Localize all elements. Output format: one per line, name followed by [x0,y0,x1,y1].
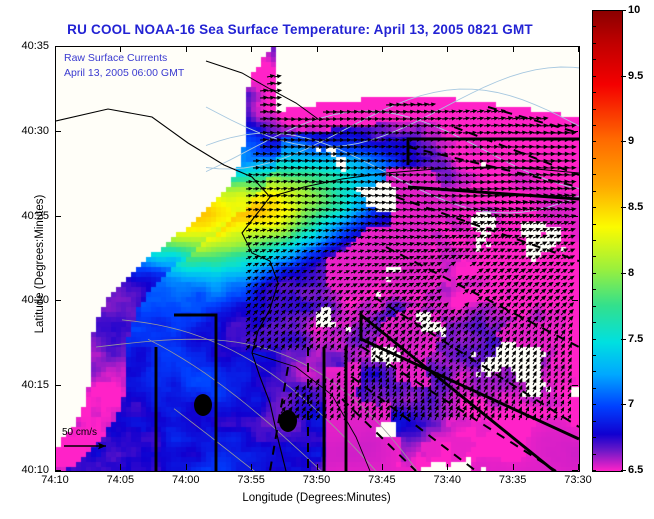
current-vector [533,180,540,183]
current-vector [470,372,473,378]
current-vector [302,271,306,274]
current-vector [365,153,371,155]
current-vector [407,330,412,336]
current-vector [316,283,321,287]
current-vector [463,276,469,280]
current-vector [421,283,427,287]
current-vector [414,250,421,253]
current-vector [491,187,498,190]
radar-sector-boundary [361,315,579,471]
current-vector [386,167,392,170]
current-vector [428,146,434,148]
current-vector [498,262,504,266]
current-vector [463,110,469,113]
current-vector [274,125,281,128]
current-vector [309,173,316,176]
current-vector [421,201,428,204]
current-vector [449,366,452,371]
current-vector [316,236,321,238]
current-vector [393,222,400,225]
current-vector [386,201,393,204]
current-vector [491,407,494,413]
current-vector [323,146,330,149]
current-vector [393,284,399,287]
current-vector [246,311,250,315]
current-vector [337,271,342,273]
current-vector [267,96,274,99]
current-vector [512,337,516,343]
current-vector [554,242,561,245]
current-vector [477,297,482,302]
current-vector [526,276,532,280]
current-vector [554,296,559,301]
current-vector [281,331,285,336]
current-vector [302,310,306,315]
current-vector [540,256,546,259]
current-vector [414,270,420,273]
y-tick [572,131,578,132]
current-vector [267,82,274,85]
current-vector [526,372,529,378]
current-vector [533,351,536,357]
current-vector [330,407,333,413]
current-vector [540,358,543,364]
current-vector [533,256,539,259]
current-vector [337,338,341,343]
current-vector [281,345,285,350]
current-vector [309,338,313,344]
current-vector [330,125,337,128]
current-vector [344,243,349,245]
current-vector [393,392,396,399]
current-vector [288,264,293,267]
current-vector [547,187,554,190]
current-vector [435,406,438,413]
current-vector [456,372,459,378]
current-vector [253,270,258,273]
current-vector [379,243,385,246]
current-vector [288,400,292,406]
current-vector [365,229,371,231]
current-vector [351,264,356,266]
current-vector [344,250,349,252]
current-vector [358,181,364,183]
current-vector [274,304,279,308]
current-vector [295,386,298,392]
current-vector [463,249,469,252]
current-vector [421,337,425,343]
current-vector [568,208,576,211]
current-vector [477,365,480,371]
current-vector [554,249,560,252]
current-vector [316,160,322,163]
current-vector [470,406,473,413]
coastline-path [56,109,286,471]
current-vector [330,111,337,114]
current-vector [540,296,546,301]
current-vector [477,283,482,287]
current-vector [365,291,371,295]
current-vector [337,317,342,322]
current-vector [491,262,497,266]
current-vector [260,188,266,190]
current-vector [288,118,295,121]
x-tick [447,464,448,470]
current-vector [428,359,431,364]
current-vector [302,290,307,294]
current-vector [554,344,557,350]
current-vector [533,400,536,406]
current-vector [309,180,316,183]
current-vector [379,290,385,294]
current-vector [470,124,476,126]
current-vector [554,187,561,190]
current-vector [533,145,540,148]
current-vector [351,304,356,308]
current-vector [274,202,280,204]
current-vector [260,304,265,308]
current-vector [526,386,529,392]
current-vector [547,215,554,218]
y-tick-label: 40:20 [3,294,49,306]
current-vector [358,277,364,280]
current-vector [435,160,441,162]
current-vector [246,257,251,259]
current-vector [379,372,382,378]
current-vector [302,331,306,336]
current-vector [358,407,361,414]
current-vector [484,110,491,113]
current-vector [330,400,333,406]
current-vector [463,124,469,126]
current-vector [477,413,480,420]
current-vector [414,317,420,322]
current-vector [407,118,414,121]
current-vector [519,207,527,210]
current-vector [442,160,448,162]
current-vector [260,167,266,170]
current-vector [435,324,440,329]
bathymetry-contour [206,89,579,169]
current-vector [491,110,498,113]
current-vector [400,297,406,301]
current-vector [344,202,350,205]
current-vector [547,408,550,414]
current-vector [540,131,548,134]
current-vector [470,324,475,329]
current-vector [463,146,469,148]
current-vector [372,358,375,364]
current-vector [421,276,427,280]
current-vector [316,324,320,329]
current-vector [421,125,427,128]
current-vector [498,201,506,204]
current-vector [253,181,259,183]
current-vector [512,153,519,156]
current-vector [428,132,434,134]
current-vector [365,201,372,204]
current-vector [344,257,349,259]
station-marker [279,410,297,432]
current-vector [568,124,576,127]
colorbar-minor-tick [592,92,596,93]
current-vector [323,310,328,315]
current-vector [414,167,420,169]
current-vector [435,249,442,252]
current-vector [519,303,525,308]
current-vector [477,194,485,197]
current-vector [246,331,250,336]
current-vector [267,222,273,224]
current-vector [568,180,576,183]
current-vector [519,201,527,204]
x-tick-label: 73:45 [368,474,396,486]
colorbar-minor-tick [592,355,596,356]
current-vector [547,262,553,266]
current-vector [309,324,313,329]
current-vector [365,264,371,266]
current-vector [449,345,453,350]
current-vector [281,146,288,149]
current-vector [435,303,441,308]
current-vector [351,297,356,301]
current-vector [554,152,562,155]
current-vector [547,401,550,406]
current-vector [316,243,321,245]
current-vector [470,181,477,184]
current-vector [470,215,477,218]
current-vector [421,310,427,315]
current-vector [554,222,561,225]
coastline-lower-bay [252,353,370,471]
current-vector [505,263,511,267]
current-vector [470,310,475,315]
current-vector [253,257,258,260]
current-vector [428,399,431,406]
current-vector [407,365,410,371]
current-vector [470,345,474,351]
current-vector [519,235,526,238]
current-vector [561,152,569,155]
current-vector [561,283,567,287]
colorbar-tick [621,76,626,77]
current-vector [540,365,543,371]
current-vector [421,103,428,106]
x-tick [120,464,121,470]
current-vector [533,310,538,315]
current-vector [281,194,287,196]
current-vector [547,166,555,169]
current-vector [302,146,309,149]
current-vector [302,243,307,245]
current-vector [309,277,314,280]
current-vector [358,304,363,308]
current-vector [351,110,358,113]
current-vector [547,379,550,385]
current-vector [491,174,498,177]
current-vector [533,296,539,301]
current-vector [267,124,274,127]
current-vector [337,372,340,378]
current-vector [379,270,385,273]
current-vector [358,297,364,301]
current-vector [428,167,434,169]
current-vector [386,277,392,280]
current-vector [358,291,364,295]
current-vector [477,269,483,273]
current-vector [344,291,350,294]
current-vector [358,160,364,162]
current-vector [554,215,561,218]
current-vector [533,221,540,224]
current-vector [372,160,378,162]
current-vector [323,331,327,336]
current-vector [407,250,414,253]
current-vector [463,195,470,198]
current-vector [316,264,321,266]
current-vector [330,202,337,205]
current-vector [442,229,449,232]
current-vector [414,208,421,211]
current-vector [505,386,508,392]
current-vector [519,415,522,420]
current-vector [491,249,498,252]
current-vector [386,310,391,315]
x-tick-label: 74:00 [172,474,200,486]
current-vector [505,379,508,385]
current-vector [428,413,431,420]
current-vector [386,344,390,350]
colorbar-minor-tick [592,125,596,126]
current-vector [274,209,280,211]
current-vector [407,392,410,399]
colorbar-minor-tick [592,109,596,110]
current-vector [316,202,323,205]
colorbar-minor-tick [592,207,596,208]
current-vector [442,413,445,420]
current-vector [400,243,407,246]
current-vector [253,277,258,280]
current-vector [372,406,375,413]
current-vector [547,145,555,148]
current-vector [386,358,389,364]
current-vector [428,201,435,204]
current-vector [449,174,455,177]
current-vector [519,249,525,252]
current-vector [547,386,550,392]
current-vector [358,132,364,135]
current-vector [260,181,266,183]
current-vector [393,317,398,322]
current-vector [393,399,396,406]
current-vector [358,358,361,364]
current-vector [400,406,403,413]
current-vector [400,215,407,218]
current-vector [351,222,357,224]
current-vector [519,296,525,301]
current-vector [554,303,559,308]
current-vector [428,103,435,106]
current-vector [274,103,281,106]
current-vector [491,283,497,287]
x-tick-label: 73:50 [303,474,331,486]
current-vector [456,110,462,113]
x-axis-label: Longitude (Degrees:Minutes) [55,492,578,504]
current-vector [561,263,567,266]
current-vector [295,139,302,142]
current-vector [358,257,363,259]
current-vector [428,310,434,315]
current-vector [400,174,406,177]
current-vector [463,256,469,259]
colorbar-tick-label: 7.5 [628,333,643,345]
current-vector [512,201,520,204]
current-vector [498,117,505,120]
current-vector [323,257,327,259]
current-vector [407,194,414,197]
current-vector [323,297,328,301]
current-vector [316,250,321,252]
current-vector [400,103,407,106]
current-vector [498,289,504,294]
current-vector [365,304,371,308]
current-vector [372,257,378,260]
current-vector [414,153,420,155]
current-vector [561,269,567,273]
current-vector [421,406,424,413]
current-vector [344,324,349,329]
current-vector [372,125,378,127]
current-vector [463,117,469,119]
current-vector [309,386,312,392]
current-vector [561,372,564,378]
current-vector [568,283,574,287]
current-vector [414,330,419,336]
current-vector [337,379,340,385]
current-vector [435,338,439,343]
current-vector [484,153,491,156]
current-vector [498,296,504,301]
coastline-upper [206,61,318,119]
current-vector [351,195,357,198]
current-vector [351,284,357,287]
current-vector [372,208,379,211]
current-vector [505,282,511,287]
current-vector [337,311,342,316]
current-vector [519,124,526,127]
current-vector [246,181,252,183]
plot-area[interactable]: Raw Surface Currents April 13, 2005 06:0… [55,46,580,472]
current-vector [477,228,484,231]
current-vector [351,271,356,273]
current-vector [386,236,393,239]
current-vector [547,131,555,134]
current-vector [421,110,428,113]
current-vector [442,324,447,329]
current-vector [400,392,403,399]
current-vector [456,222,463,225]
current-vector [519,358,522,364]
current-vector [400,201,407,204]
y-tick [55,216,61,217]
current-vector [330,415,333,421]
current-vector [456,215,463,218]
current-vector [505,228,512,231]
current-vector [547,415,550,421]
current-vector [456,242,463,245]
current-vector [519,372,522,378]
current-vector [351,400,354,406]
